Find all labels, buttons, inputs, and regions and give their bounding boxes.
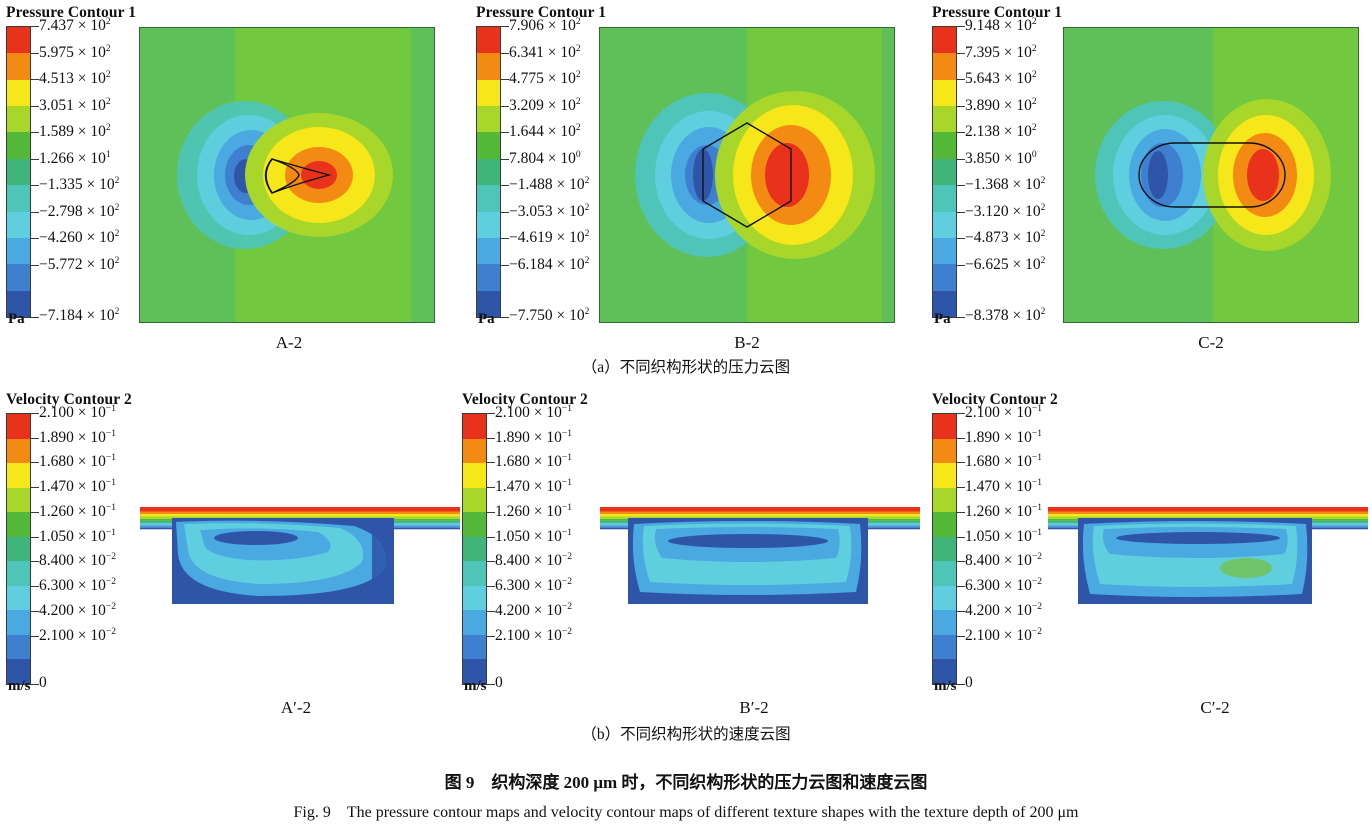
colorbar-band-2 [477,80,500,106]
colorbar-band-4 [7,132,30,158]
colorbar-tick-4 [501,132,509,133]
colorbar-tick-1 [31,438,39,439]
legend-unit: Pa [8,311,25,328]
colorbar-tick-2 [487,462,495,463]
colorbar-label-10: −7.750 × 102 [509,307,589,325]
colorbar-band-9 [463,635,486,660]
sublabel-b2: B-2 [697,333,797,353]
colorbar-label-3: 1.470 × 10−1 [495,478,572,496]
sublabel-b-prime-2: B′-2 [694,698,814,718]
colorbar-label-3: 1.470 × 10−1 [965,478,1042,496]
sublabel-c-prime-2: C′-2 [1155,698,1275,718]
colorbar-tick-1 [31,53,39,54]
colorbar-tick-0 [957,26,965,27]
colorbar-tick-1 [957,53,965,54]
colorbar-label-5: 1.266 × 101 [39,150,111,168]
colorbar-tick-6 [31,561,39,562]
colorbar-tick-1 [957,438,965,439]
colorbar-band-4 [933,512,956,537]
colorbar-tick-1 [487,438,495,439]
figure-caption-en: Fig. 9 The pressure contour maps and vel… [0,798,1372,822]
colorbar-label-8: 4.200 × 10−2 [495,602,572,620]
colorbar-band-6 [933,185,956,211]
colorbar-label-3: 3.209 × 102 [509,97,581,115]
colorbar-tick-3 [501,106,509,107]
colorbar-tick-2 [957,462,965,463]
colorbar-band-0 [7,27,30,53]
colorbar-tick-5 [487,537,495,538]
velocity-legend-a: Velocity Contour 2 2.100 × 10−11.890 × 1… [6,391,156,685]
colorbar [932,413,957,685]
contour-canvas-c [1063,27,1359,323]
colorbar-band-8 [7,238,30,264]
colorbar-band-8 [477,238,500,264]
colorbar-tick-3 [957,106,965,107]
colorbar-tick-2 [501,79,509,80]
colorbar-band-0 [463,414,486,439]
colorbar-band-9 [7,635,30,660]
colorbar-label-9: −6.184 × 102 [509,256,589,274]
colorbar-band-7 [933,586,956,611]
figure-9: Pressure Contour 1 7.437 × 1025.975 × 10… [0,0,1372,833]
figure-caption-cn: 图 9 织构深度 200 μm 时，不同织构形状的压力云图和速度云图 [0,768,1372,793]
colorbar-tick-7 [487,586,495,587]
colorbar-band-9 [477,264,500,290]
colorbar-label-7: 6.300 × 10−2 [495,577,572,595]
colorbar-tick-5 [957,537,965,538]
colorbar-label-9: −5.772 × 102 [39,256,119,274]
legend-unit: m/s [934,678,957,695]
colorbar-label-0: 7.906 × 102 [509,17,581,35]
colorbar-band-4 [463,512,486,537]
colorbar-label-0: 2.100 × 10−1 [965,404,1042,422]
colorbar-band-0 [933,27,956,53]
colorbar-tick-10 [487,684,495,685]
colorbar-label-5: 7.804 × 100 [509,150,581,168]
pressure-plot-c [1063,27,1359,323]
colorbar-label-5: 3.850 × 100 [965,150,1037,168]
colorbar-label-8: −4.619 × 102 [509,229,589,247]
colorbar-tick-10 [31,317,39,318]
colorbar-tick-0 [31,413,39,414]
colorbar-label-1: 5.975 × 102 [39,43,111,61]
colorbar-group: 2.100 × 10−11.890 × 10−11.680 × 10−11.47… [6,413,156,685]
colorbar-band-6 [933,561,956,586]
colorbar-tick-4 [31,512,39,513]
velocity-canvas-b [600,496,920,626]
colorbar-label-8: −4.260 × 102 [39,229,119,247]
colorbar-label-5: 1.050 × 10−1 [495,528,572,546]
velocity-plot-b [600,496,920,626]
colorbar-tick-8 [957,611,965,612]
colorbar-label-10: 0 [965,674,973,692]
legend-unit: m/s [464,678,487,695]
colorbar-tick-9 [501,265,509,266]
colorbar-label-6: −1.368 × 102 [965,176,1045,194]
colorbar-label-7: 6.300 × 10−2 [39,577,116,595]
colorbar-tick-5 [957,159,965,160]
colorbar-label-8: 4.200 × 10−2 [965,602,1042,620]
colorbar-label-2: 4.775 × 102 [509,70,581,88]
colorbar-label-1: 1.890 × 10−1 [39,429,116,447]
colorbar-tick-4 [31,132,39,133]
colorbar-band-9 [7,264,30,290]
groove-a [172,518,394,604]
colorbar-label-6: −1.488 × 102 [509,176,589,194]
colorbar-tick-1 [501,53,509,54]
colorbar-label-2: 4.513 × 102 [39,70,111,88]
colorbar-band-5 [477,159,500,185]
colorbar-label-7: −2.798 × 102 [39,203,119,221]
colorbar-band-5 [463,537,486,562]
colorbar [6,413,31,685]
velocity-plot-c [1048,496,1368,626]
colorbar-label-10: −7.184 × 102 [39,307,119,325]
colorbar-label-1: 6.341 × 102 [509,43,581,61]
colorbar-label-2: 5.643 × 102 [965,70,1037,88]
colorbar-label-0: 2.100 × 10−1 [39,404,116,422]
colorbar-band-3 [477,106,500,132]
colorbar-label-5: 1.050 × 10−1 [39,528,116,546]
colorbar-tick-6 [31,185,39,186]
colorbar-band-5 [7,159,30,185]
sublabel-a-prime-2: A′-2 [236,698,356,718]
colorbar-tick-10 [957,317,965,318]
colorbar-tick-6 [957,561,965,562]
colorbar-tick-9 [31,265,39,266]
colorbar-label-1: 1.890 × 10−1 [495,429,572,447]
colorbar-band-1 [7,439,30,464]
colorbar-tick-2 [957,79,965,80]
colorbar-label-4: 1.589 × 102 [39,123,111,141]
colorbar-label-4: 2.138 × 102 [965,123,1037,141]
colorbar-band-7 [7,212,30,238]
colorbar-band-6 [477,185,500,211]
colorbar-band-8 [463,610,486,635]
colorbar-label-8: −4.873 × 102 [965,229,1045,247]
colorbar-tick-5 [501,159,509,160]
colorbar-tick-0 [31,26,39,27]
colorbar-tick-3 [31,106,39,107]
colorbar-tick-8 [487,611,495,612]
colorbar [6,26,31,318]
colorbar-band-2 [463,463,486,488]
colorbar-tick-7 [31,586,39,587]
colorbar-tick-0 [487,413,495,414]
sublabel-a2: A-2 [239,333,339,353]
colorbar-band-8 [933,238,956,264]
groove-c [1078,518,1312,604]
colorbar-tick-3 [957,487,965,488]
colorbar-label-4: 1.260 × 10−1 [39,503,116,521]
colorbar-band-7 [463,586,486,611]
colorbar-band-0 [933,414,956,439]
colorbar-tick-9 [957,636,965,637]
colorbar-tick-2 [31,79,39,80]
colorbar-tick-8 [31,238,39,239]
colorbar-band-4 [933,132,956,158]
colorbar-tick-3 [31,487,39,488]
colorbar-tick-10 [501,317,509,318]
colorbar-band-8 [7,610,30,635]
colorbar-band-9 [933,635,956,660]
colorbar-tick-8 [501,238,509,239]
colorbar-label-10: −8.378 × 102 [965,307,1045,325]
colorbar-band-3 [463,488,486,513]
colorbar-band-6 [463,561,486,586]
row-caption-b: （b）不同织构形状的速度云图 [0,722,1372,744]
colorbar-label-7: −3.120 × 102 [965,203,1045,221]
colorbar-tick-7 [957,212,965,213]
colorbar-label-9: 2.100 × 10−2 [495,626,572,644]
colorbar-label-5: 1.050 × 10−1 [965,528,1042,546]
colorbar-band-5 [933,537,956,562]
colorbar-tick-10 [31,684,39,685]
row-caption-a: （a）不同织构形状的压力云图 [0,355,1372,377]
groove-b [628,518,868,604]
colorbar-tick-5 [31,159,39,160]
colorbar-tick-6 [501,185,509,186]
colorbar-label-1: 1.890 × 10−1 [965,429,1042,447]
colorbar-tick-2 [31,462,39,463]
colorbar-band-3 [933,106,956,132]
colorbar [462,413,487,685]
colorbar [932,26,957,318]
colorbar-band-3 [933,488,956,513]
colorbar-tick-6 [957,185,965,186]
colorbar-band-9 [933,264,956,290]
colorbar-tick-0 [501,26,509,27]
colorbar-band-6 [7,561,30,586]
colorbar-band-6 [7,185,30,211]
colorbar-tick-3 [487,487,495,488]
colorbar-band-3 [7,106,30,132]
colorbar-label-6: 8.400 × 10−2 [39,552,116,570]
colorbar-label-4: 1.260 × 10−1 [495,503,572,521]
colorbar-label-3: 1.470 × 10−1 [39,478,116,496]
colorbar-band-1 [7,53,30,79]
colorbar-tick-0 [957,413,965,414]
colorbar-tick-9 [487,636,495,637]
colorbar-band-2 [7,80,30,106]
colorbar-band-8 [933,610,956,635]
colorbar-band-7 [7,586,30,611]
colorbar-label-2: 1.680 × 10−1 [965,453,1042,471]
colorbar [476,26,501,318]
colorbar-band-3 [7,488,30,513]
colorbar-label-7: −3.053 × 102 [509,203,589,221]
colorbar-tick-7 [957,586,965,587]
colorbar-label-9: 2.100 × 10−2 [965,626,1042,644]
colorbar-label-9: 2.100 × 10−2 [39,626,116,644]
colorbar-tick-4 [957,512,965,513]
colorbar-label-8: 4.200 × 10−2 [39,602,116,620]
colorbar-group: 9.148 × 1027.395 × 1025.643 × 1023.890 ×… [932,26,1082,318]
colorbar-label-10: 0 [39,674,47,692]
contour-canvas-a [139,27,435,323]
pressure-legend-a: Pressure Contour 1 7.437 × 1025.975 × 10… [6,4,156,318]
colorbar-band-1 [477,53,500,79]
sublabel-c2: C-2 [1161,333,1261,353]
colorbar-tick-6 [487,561,495,562]
colorbar-band-2 [933,80,956,106]
colorbar-tick-5 [31,537,39,538]
velocity-plot-a [140,496,460,626]
colorbar-band-4 [7,512,30,537]
colorbar-group: 2.100 × 10−11.890 × 10−11.680 × 10−11.47… [462,413,612,685]
colorbar-band-2 [7,463,30,488]
colorbar-label-0: 7.437 × 102 [39,17,111,35]
colorbar-tick-4 [957,132,965,133]
colorbar-band-0 [477,27,500,53]
colorbar-label-2: 1.680 × 10−1 [495,453,572,471]
colorbar-band-2 [933,463,956,488]
velocity-legend-b: Velocity Contour 2 2.100 × 10−11.890 × 1… [462,391,612,685]
colorbar-band-1 [933,439,956,464]
velocity-canvas-a [140,496,460,626]
colorbar-label-6: 8.400 × 10−2 [495,552,572,570]
colorbar-group: 7.437 × 1025.975 × 1024.513 × 1023.051 ×… [6,26,156,318]
colorbar-band-1 [463,439,486,464]
legend-unit: m/s [8,678,31,695]
colorbar-label-0: 2.100 × 10−1 [495,404,572,422]
colorbar-band-4 [477,132,500,158]
colorbar-tick-7 [501,212,509,213]
colorbar-label-9: −6.625 × 102 [965,256,1045,274]
colorbar-label-3: 3.051 × 102 [39,97,111,115]
colorbar-band-7 [933,212,956,238]
colorbar-label-10: 0 [495,674,503,692]
pressure-plot-b [599,27,895,323]
colorbar-tick-7 [31,212,39,213]
colorbar-tick-8 [31,611,39,612]
colorbar-band-7 [477,212,500,238]
colorbar-tick-10 [957,684,965,685]
colorbar-label-7: 6.300 × 10−2 [965,577,1042,595]
colorbar-tick-8 [957,238,965,239]
colorbar-label-6: −1.335 × 102 [39,176,119,194]
colorbar-label-3: 3.890 × 102 [965,97,1037,115]
legend-unit: Pa [934,311,951,328]
colorbar-label-6: 8.400 × 10−2 [965,552,1042,570]
legend-unit: Pa [478,311,495,328]
colorbar-band-0 [7,414,30,439]
colorbar-label-0: 9.148 × 102 [965,17,1037,35]
colorbar-band-5 [7,537,30,562]
colorbar-band-5 [933,159,956,185]
colorbar-tick-4 [487,512,495,513]
colorbar-label-4: 1.644 × 102 [509,123,581,141]
contour-canvas-b [599,27,895,323]
colorbar-tick-9 [31,636,39,637]
velocity-canvas-c [1048,496,1368,626]
colorbar-label-1: 7.395 × 102 [965,43,1037,61]
colorbar-label-4: 1.260 × 10−1 [965,503,1042,521]
pressure-plot-a [139,27,435,323]
colorbar-tick-9 [957,265,965,266]
colorbar-band-1 [933,53,956,79]
pressure-legend-c: Pressure Contour 1 9.148 × 1027.395 × 10… [932,4,1082,318]
colorbar-label-2: 1.680 × 10−1 [39,453,116,471]
